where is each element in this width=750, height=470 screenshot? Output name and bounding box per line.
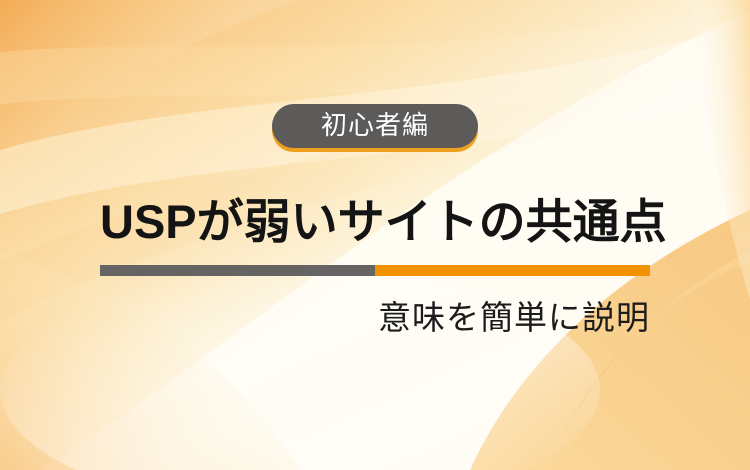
divider-segment-orange: [375, 265, 650, 276]
category-badge-pill: 初心者編: [272, 104, 478, 148]
category-badge: 初心者編: [272, 104, 478, 152]
category-badge-label: 初心者編: [321, 112, 429, 140]
divider: [100, 265, 650, 276]
page-title: USPが弱いサイトの共通点: [100, 192, 654, 252]
eyecatch-canvas: 初心者編 USPが弱いサイトの共通点 意味を簡単に説明: [0, 0, 750, 470]
page-subtitle: 意味を簡単に説明: [100, 296, 650, 340]
divider-segment-gray: [100, 265, 375, 276]
